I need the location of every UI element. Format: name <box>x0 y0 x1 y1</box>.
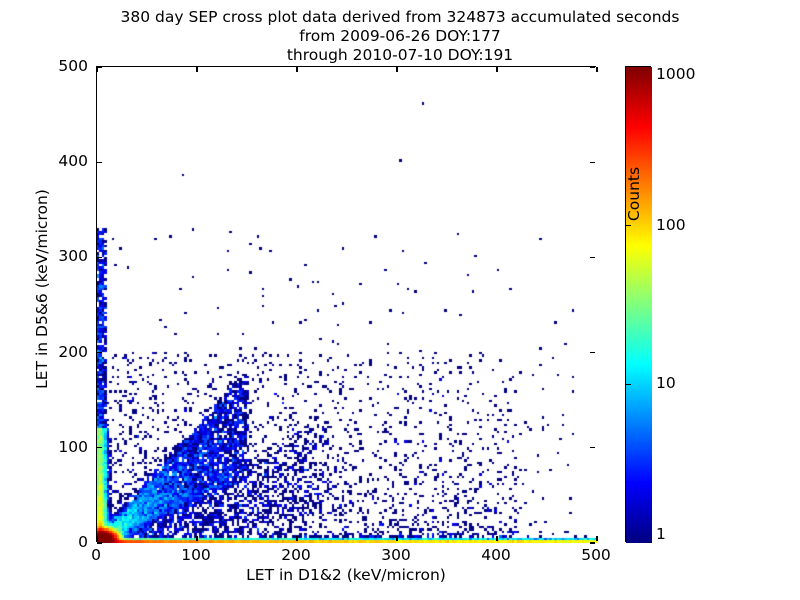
y-tick-mark-right <box>590 352 595 353</box>
x-tick-label: 400 <box>481 546 511 564</box>
colorbar-tick-label: 1 <box>656 525 666 543</box>
x-tick-mark-top <box>196 67 197 72</box>
title-line-1: 380 day SEP cross plot data derived from… <box>0 8 800 27</box>
y-tick-label: 400 <box>18 152 88 170</box>
x-tick-label: 500 <box>581 546 611 564</box>
x-tick-mark <box>196 536 197 541</box>
x-tick-mark-top <box>396 67 397 72</box>
x-tick-mark-top <box>96 67 97 72</box>
y-tick-mark <box>97 352 102 353</box>
y-tick-mark-right <box>590 447 595 448</box>
y-tick-mark-right <box>590 66 595 67</box>
colorbar-label: Counts <box>625 84 643 304</box>
y-tick-mark <box>97 66 102 67</box>
title-line-2: from 2009-06-26 DOY:177 <box>0 27 800 46</box>
y-tick-label: 300 <box>18 247 88 265</box>
x-tick-mark <box>596 536 597 541</box>
colorbar-tick-label: 10 <box>656 374 676 392</box>
title-line-3: through 2010-07-10 DOY:191 <box>0 46 800 65</box>
colorbar-tick-mark <box>626 384 631 385</box>
x-tick-mark <box>96 536 97 541</box>
x-tick-mark-top <box>496 67 497 72</box>
x-tick-mark <box>296 536 297 541</box>
colorbar-tick-label: 100 <box>656 216 686 234</box>
x-tick-mark <box>496 536 497 541</box>
x-axis-label: LET in D1&2 (keV/micron) <box>96 566 596 584</box>
y-tick-mark <box>97 162 102 163</box>
x-tick-mark-top <box>596 67 597 72</box>
x-tick-label: 300 <box>381 546 411 564</box>
colorbar-tick-label: 1000 <box>656 65 695 83</box>
y-tick-mark-right <box>590 162 595 163</box>
y-tick-label: 0 <box>18 533 88 551</box>
y-tick-label: 500 <box>18 57 88 75</box>
x-tick-label: 0 <box>91 546 101 564</box>
plot-axes <box>96 66 596 542</box>
x-tick-mark-top <box>296 67 297 72</box>
scatter-histogram-layer <box>97 67 597 543</box>
y-tick-mark <box>97 542 102 543</box>
y-axis-label: LET in D5&6 (keV/micron) <box>33 139 51 439</box>
y-tick-mark-right <box>590 257 595 258</box>
y-tick-label: 100 <box>18 438 88 456</box>
y-tick-mark <box>97 447 102 448</box>
y-tick-mark <box>97 257 102 258</box>
chart-title: 380 day SEP cross plot data derived from… <box>0 8 800 65</box>
y-tick-label: 200 <box>18 343 88 361</box>
figure-canvas: 380 day SEP cross plot data derived from… <box>0 0 800 600</box>
x-tick-mark <box>396 536 397 541</box>
y-tick-mark-right <box>590 542 595 543</box>
x-tick-label: 100 <box>181 546 211 564</box>
x-tick-label: 200 <box>281 546 311 564</box>
